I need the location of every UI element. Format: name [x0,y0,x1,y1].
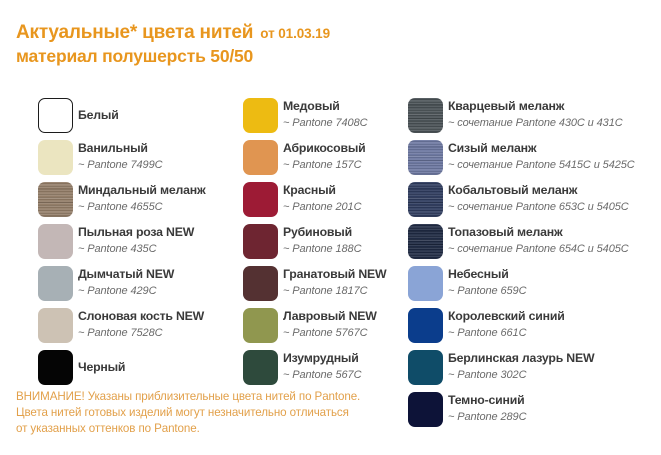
color-swatch[interactable] [408,98,443,133]
color-swatch[interactable] [243,182,278,217]
swatch-row[interactable]: Небесный~ Pantone 659C [408,266,658,308]
title-row: Актуальные* цвета нитейот 01.03.19 [16,22,636,45]
swatch-row[interactable]: Слоновая кость NEW~ Pantone 7528C [38,308,238,350]
color-swatch[interactable] [38,308,73,343]
swatch-row[interactable]: Красный~ Pantone 201C [243,182,408,224]
color-swatch[interactable] [408,266,443,301]
color-swatch[interactable] [243,140,278,175]
swatch-row[interactable]: Гранатовый NEW~ Pantone 1817C [243,266,408,308]
color-swatch[interactable] [38,350,73,385]
swatch-row[interactable]: Медовый~ Pantone 7408C [243,98,408,140]
swatch-name: Берлинская лазурь NEW [448,350,661,366]
swatch-pantone-code: ~ Pantone 661C [448,325,661,341]
page-title: Актуальные* цвета нитей [16,22,253,43]
notice-line: Цвета нитей готовых изделий могут незнач… [16,405,436,421]
notice-block: ВНИМАНИЕ! Указаны приблизительные цвета … [16,389,436,437]
page-header: Актуальные* цвета нитейот 01.03.19 матер… [16,22,636,69]
swatch-row[interactable]: Белый [38,98,238,140]
color-swatch[interactable] [38,140,73,175]
swatch-row[interactable]: Сизый меланж~ сочетание Pantone 5415C и … [408,140,658,182]
subtitle-row: материал полушерсть 50/50 [16,45,636,69]
swatch-text-group: Небесный~ Pantone 659C [448,266,661,299]
swatch-name: Топазовый меланж [448,224,661,240]
swatch-text-group: Топазовый меланж~ сочетание Pantone 654C… [448,224,661,257]
color-swatch[interactable] [243,98,278,133]
swatch-row[interactable]: Дымчатый NEW~ Pantone 429C [38,266,238,308]
swatch-row[interactable]: Берлинская лазурь NEW~ Pantone 302C [408,350,658,392]
swatch-text-group: Кварцевый меланж~ сочетание Pantone 430C… [448,98,661,131]
page-title-date: от 01.03.19 [260,26,330,41]
swatch-pantone-code: ~ сочетание Pantone 654C и 5405C [448,241,661,257]
swatch-row[interactable]: Королевский синий~ Pantone 661C [408,308,658,350]
swatch-row[interactable]: Черный [38,350,238,392]
swatch-row[interactable]: Ванильный~ Pantone 7499C [38,140,238,182]
swatch-row[interactable]: Кобальтовый меланж~ сочетание Pantone 65… [408,182,658,224]
color-swatch[interactable] [243,308,278,343]
color-swatch[interactable] [408,224,443,259]
swatch-text-group: Берлинская лазурь NEW~ Pantone 302C [448,350,661,383]
color-swatch[interactable] [408,308,443,343]
swatch-pantone-code: ~ Pantone 659C [448,283,661,299]
swatch-name: Сизый меланж [448,140,661,156]
swatch-column-1: БелыйВанильный~ Pantone 7499CМиндальный … [38,98,238,392]
color-chart-page: Актуальные* цвета нитейот 01.03.19 матер… [0,0,661,455]
swatch-row[interactable]: Миндальный меланж~ Pantone 4655C [38,182,238,224]
color-swatch[interactable] [243,350,278,385]
swatch-name: Королевский синий [448,308,661,324]
swatch-row[interactable]: Темно-синий~ Pantone 289C [408,392,658,434]
color-swatch[interactable] [243,224,278,259]
swatch-name: Кобальтовый меланж [448,182,661,198]
swatch-row[interactable]: Абрикосовый~ Pantone 157C [243,140,408,182]
color-swatch[interactable] [408,140,443,175]
swatch-row[interactable]: Изумрудный~ Pantone 567C [243,350,408,392]
color-swatch[interactable] [38,224,73,259]
swatch-text-group: Королевский синий~ Pantone 661C [448,308,661,341]
swatch-row[interactable]: Топазовый меланж~ сочетание Pantone 654C… [408,224,658,266]
swatch-text-group: Кобальтовый меланж~ сочетание Pantone 65… [448,182,661,215]
color-swatch[interactable] [408,182,443,217]
color-swatch[interactable] [408,350,443,385]
swatch-row[interactable]: Пыльная роза NEW~ Pantone 435C [38,224,238,266]
swatch-pantone-code: ~ Pantone 289C [448,409,661,425]
color-swatch[interactable] [38,266,73,301]
swatch-pantone-code: ~ сочетание Pantone 430C и 431C [448,115,661,131]
swatch-row[interactable]: Лавровый NEW~ Pantone 5767C [243,308,408,350]
notice-line: от указанных оттенков по Pantone. [16,421,436,437]
swatch-row[interactable]: Рубиновый~ Pantone 188C [243,224,408,266]
color-swatch[interactable] [243,266,278,301]
page-subtitle: материал полушерсть 50/50 [16,46,253,66]
swatch-pantone-code: ~ Pantone 302C [448,367,661,383]
swatch-pantone-code: ~ сочетание Pantone 5415C и 5425C [448,157,661,173]
swatch-name: Темно-синий [448,392,661,408]
color-swatch[interactable] [38,182,73,217]
swatch-pantone-code: ~ сочетание Pantone 653C и 5405C [448,199,661,215]
notice-line: ВНИМАНИЕ! Указаны приблизительные цвета … [16,389,436,405]
swatch-text-group: Темно-синий~ Pantone 289C [448,392,661,425]
swatch-name: Небесный [448,266,661,282]
swatch-column-2: Медовый~ Pantone 7408CАбрикосовый~ Panto… [243,98,408,392]
swatch-text-group: Сизый меланж~ сочетание Pantone 5415C и … [448,140,661,173]
swatch-name: Кварцевый меланж [448,98,661,114]
swatch-column-3: Кварцевый меланж~ сочетание Pantone 430C… [408,98,658,434]
swatch-row[interactable]: Кварцевый меланж~ сочетание Pantone 430C… [408,98,658,140]
color-swatch[interactable] [38,98,73,133]
